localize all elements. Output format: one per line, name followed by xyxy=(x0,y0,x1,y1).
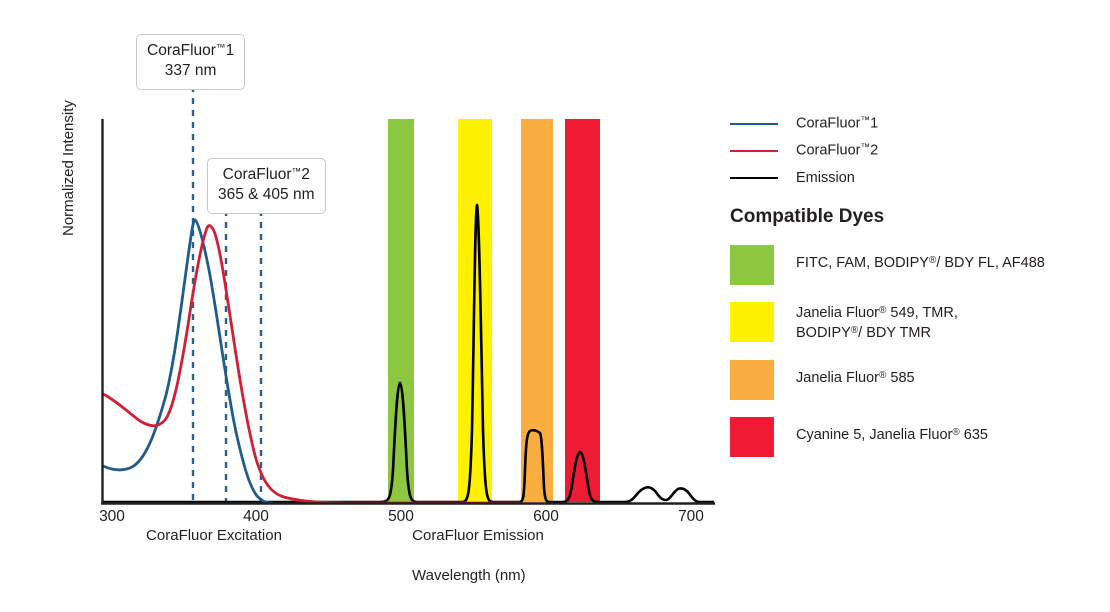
dye-legend-item-green[interactable]: FITC, FAM, BODIPY®/ BDY FL, AF488 xyxy=(730,245,1090,285)
compatible-dyes-heading: Compatible Dyes xyxy=(730,206,1090,228)
line-swatch-corafluor-2 xyxy=(730,150,778,152)
x-tick-700: 700 xyxy=(678,508,704,526)
line-swatch-corafluor-1 xyxy=(730,123,778,125)
legend-series-emission-label: Emission xyxy=(796,170,855,186)
color-swatch-red xyxy=(730,417,774,457)
dye-band-red xyxy=(565,119,600,502)
dye-legend-item-yellow-label: Janelia Fluor® 549, TMR, BODIPY®/ BDY TM… xyxy=(796,302,958,343)
corafluor-1-curve xyxy=(103,220,272,503)
trademark-icon: ™ xyxy=(860,142,870,153)
x-axis-title: Wavelength (nm) xyxy=(412,567,526,584)
trademark-icon: ™ xyxy=(860,115,870,126)
color-swatch-orange xyxy=(730,360,774,400)
dye-legend-item-green-label: FITC, FAM, BODIPY®/ BDY FL, AF488 xyxy=(796,245,1045,274)
legend-series-corafluor-2-label: CoraFluor™2 xyxy=(796,142,878,159)
callout-corafluor-2[interactable]: CoraFluor™2 365 & 405 nm xyxy=(207,158,326,214)
legend-series-corafluor-2[interactable]: CoraFluor™2 xyxy=(730,137,1090,164)
legend-series-corafluor-1[interactable]: CoraFluor™1 xyxy=(730,110,1090,137)
callout-corafluor-1-line1: CoraFluor™1 xyxy=(147,41,234,61)
dye-band-group xyxy=(388,119,600,502)
sublabel-excitation: CoraFluor Excitation xyxy=(146,527,282,544)
legend-panel: CoraFluor™1 CoraFluor™2 Emission Compati… xyxy=(730,110,1090,457)
dye-legend-item-orange-label: Janelia Fluor® 585 xyxy=(796,360,915,389)
color-swatch-yellow xyxy=(730,302,774,342)
corafluor-2-curve xyxy=(103,226,520,503)
dye-band-green xyxy=(388,119,414,502)
x-tick-600: 600 xyxy=(533,508,559,526)
dye-legend-item-red[interactable]: Cyanine 5, Janelia Fluor® 635 xyxy=(730,417,1090,457)
legend-series-emission[interactable]: Emission xyxy=(730,164,1090,191)
dye-legend-item-orange[interactable]: Janelia Fluor® 585 xyxy=(730,360,1090,400)
callout-corafluor-2-line1: CoraFluor™2 xyxy=(218,165,315,185)
legend-series-corafluor-1-label: CoraFluor™1 xyxy=(796,115,878,132)
registered-icon: ® xyxy=(952,427,959,438)
callout-corafluor-2-line2: 365 & 405 nm xyxy=(218,185,315,205)
trademark-icon: ™ xyxy=(216,42,226,53)
x-tick-300: 300 xyxy=(99,508,125,526)
dye-legend-item-yellow[interactable]: Janelia Fluor® 549, TMR, BODIPY®/ BDY TM… xyxy=(730,302,1090,343)
trademark-icon: ™ xyxy=(292,166,302,177)
x-tick-500: 500 xyxy=(388,508,414,526)
y-axis-title: Normalized Intensity xyxy=(60,66,77,236)
x-tick-400: 400 xyxy=(243,508,269,526)
spectra-chart: CoraFluor™1 337 nm CoraFluor™2 365 & 405… xyxy=(0,0,1110,612)
dye-legend-item-red-label: Cyanine 5, Janelia Fluor® 635 xyxy=(796,417,988,446)
callout-corafluor-1[interactable]: CoraFluor™1 337 nm xyxy=(136,34,245,90)
line-swatch-emission xyxy=(730,177,778,179)
callout-corafluor-1-line2: 337 nm xyxy=(147,61,234,81)
sublabel-emission: CoraFluor Emission xyxy=(412,527,544,544)
color-swatch-green xyxy=(730,245,774,285)
